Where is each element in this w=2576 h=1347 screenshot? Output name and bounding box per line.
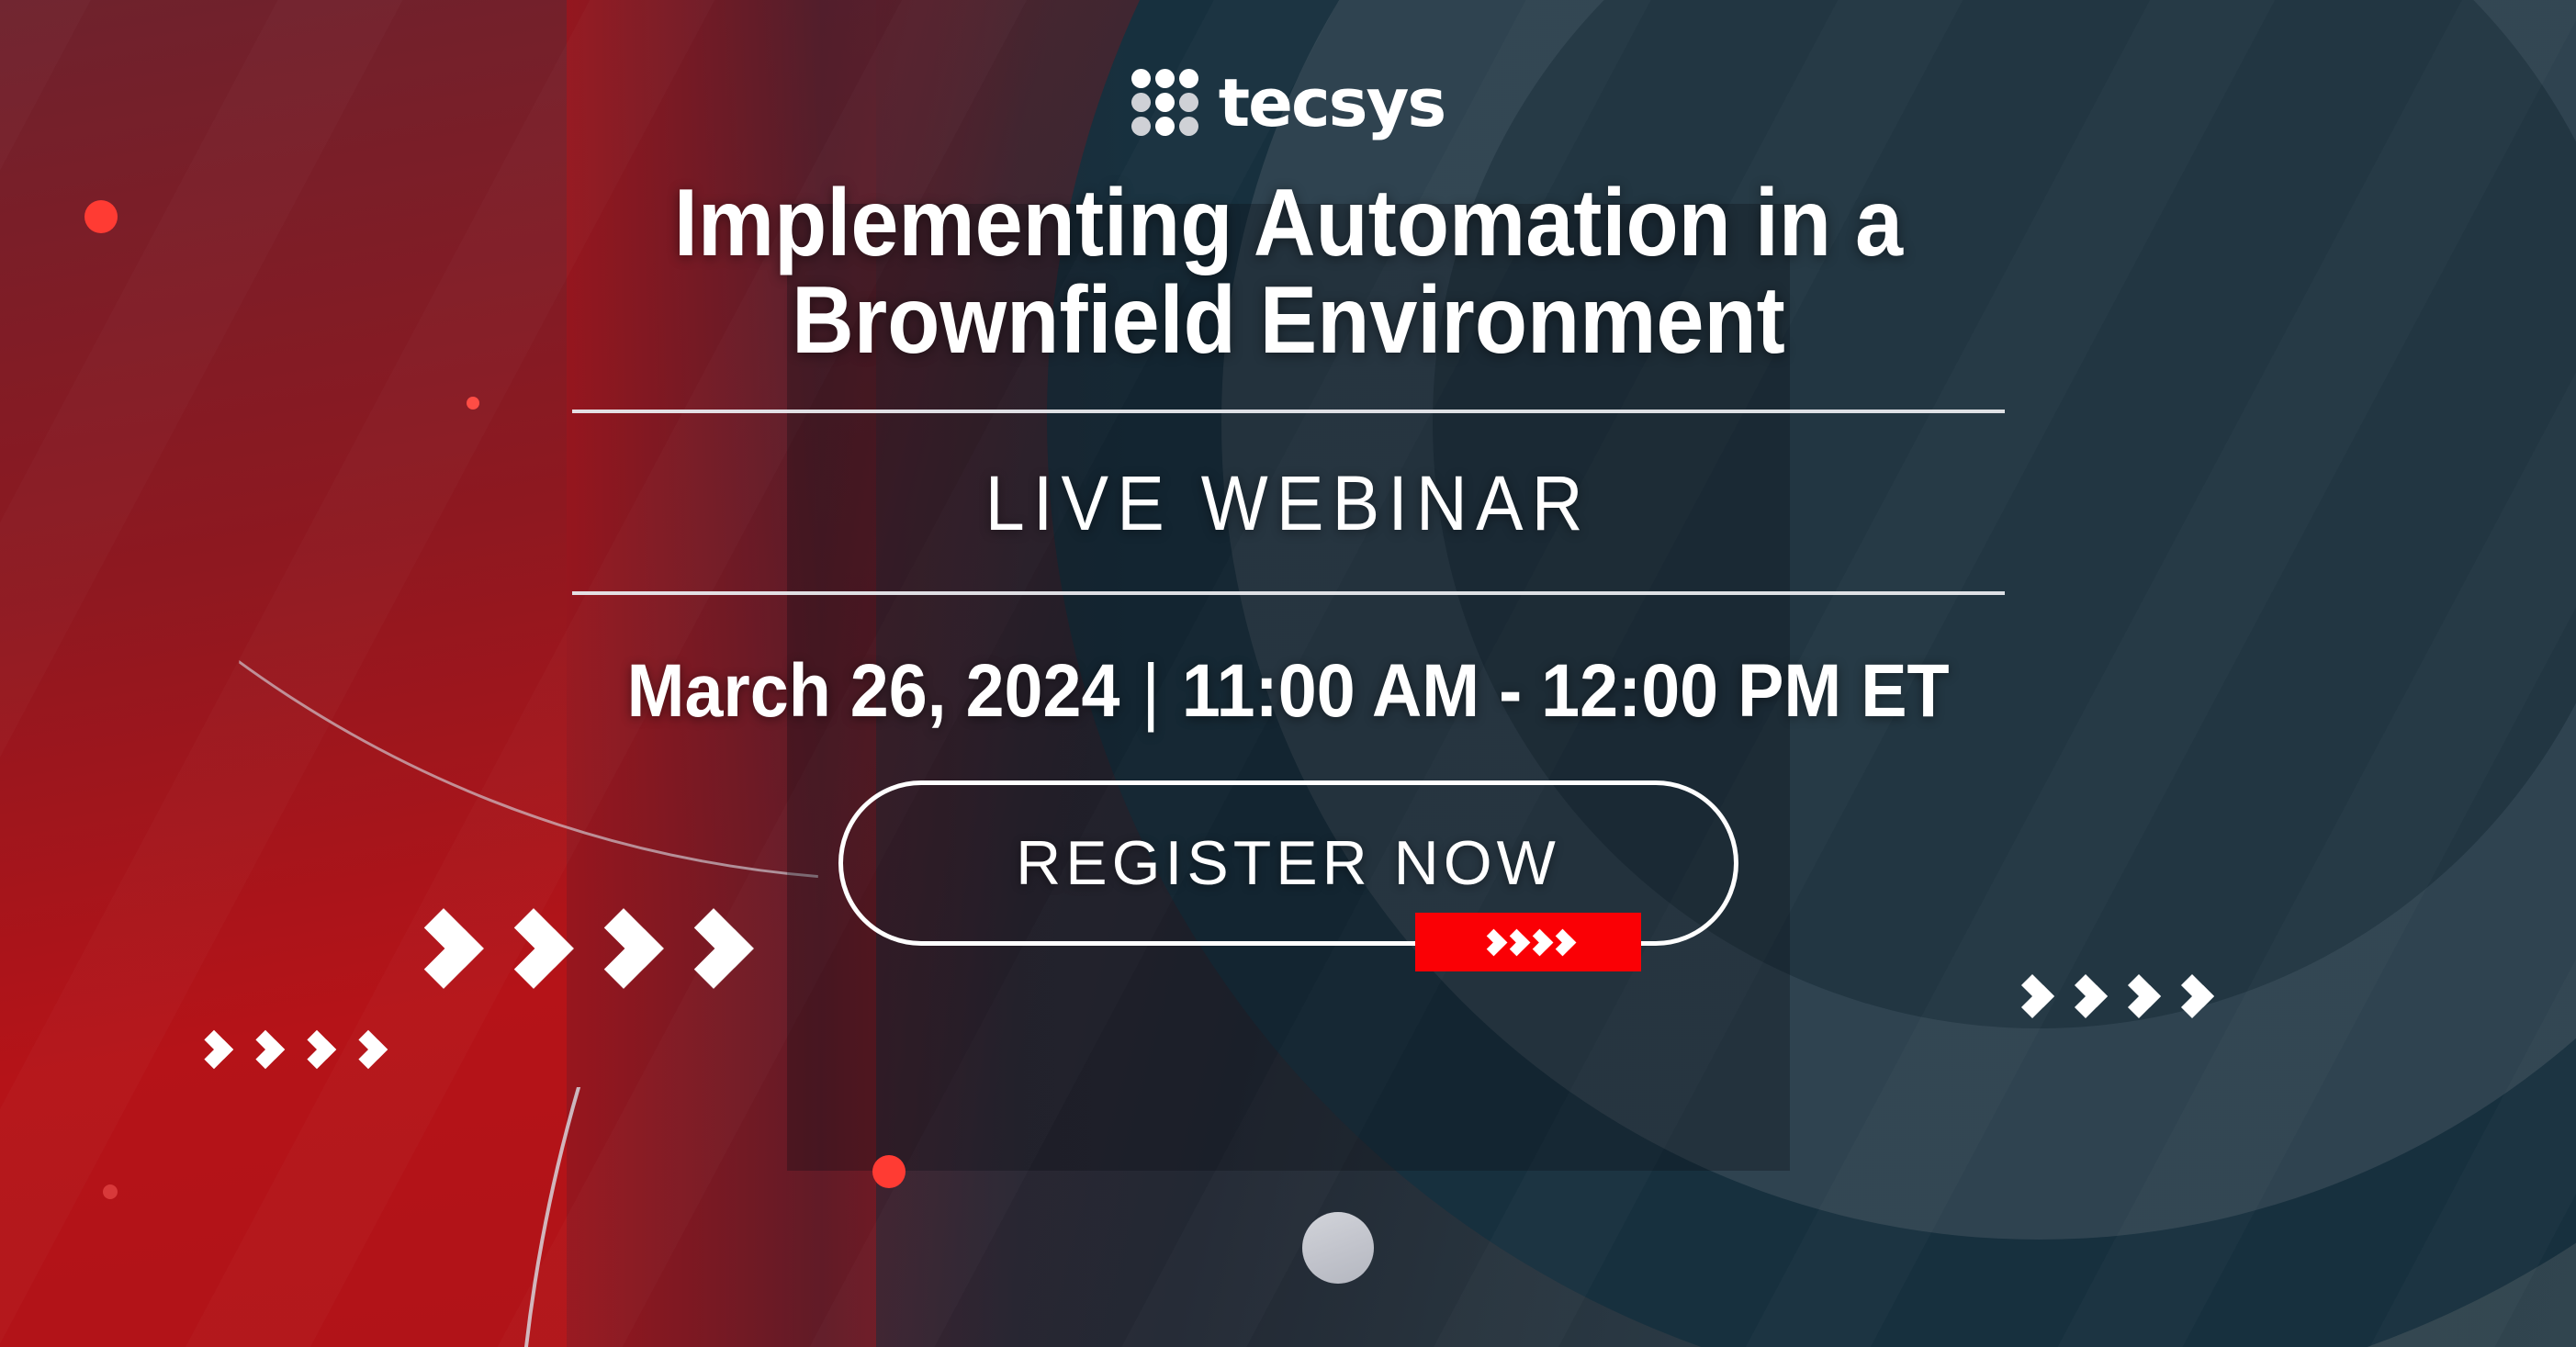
divider-bottom: [572, 591, 2005, 595]
banner-content: tecsys Implementing Automation in a Brow…: [0, 0, 2576, 1347]
title-line-2: Brownfield Environment: [792, 267, 1785, 374]
tecsys-logo[interactable]: tecsys: [1131, 69, 1445, 136]
schedule-time: 11:00 AM - 12:00 PM ET: [1182, 649, 1950, 733]
tecsys-wordmark: tecsys: [1219, 70, 1445, 136]
register-now-label: REGISTER NOW: [1016, 827, 1560, 899]
kicker-live-webinar: LIVE WEBINAR: [984, 413, 1591, 591]
schedule-line: March 26, 2024|11:00 AM - 12:00 PM ET: [626, 648, 1949, 735]
schedule-separator: |: [1119, 649, 1181, 733]
webinar-banner: tecsys Implementing Automation in a Brow…: [0, 0, 2576, 1347]
chevron-right-icon: [1548, 928, 1576, 956]
title-line-1: Implementing Automation in a: [673, 170, 1902, 276]
schedule-date: March 26, 2024: [626, 649, 1119, 733]
cta-container: REGISTER NOW: [838, 780, 1738, 946]
cta-chevron-badge[interactable]: [1415, 913, 1641, 971]
tecsys-dot-grid-icon: [1131, 69, 1198, 136]
page-title: Implementing Automation in a Brownfield …: [503, 174, 2074, 369]
